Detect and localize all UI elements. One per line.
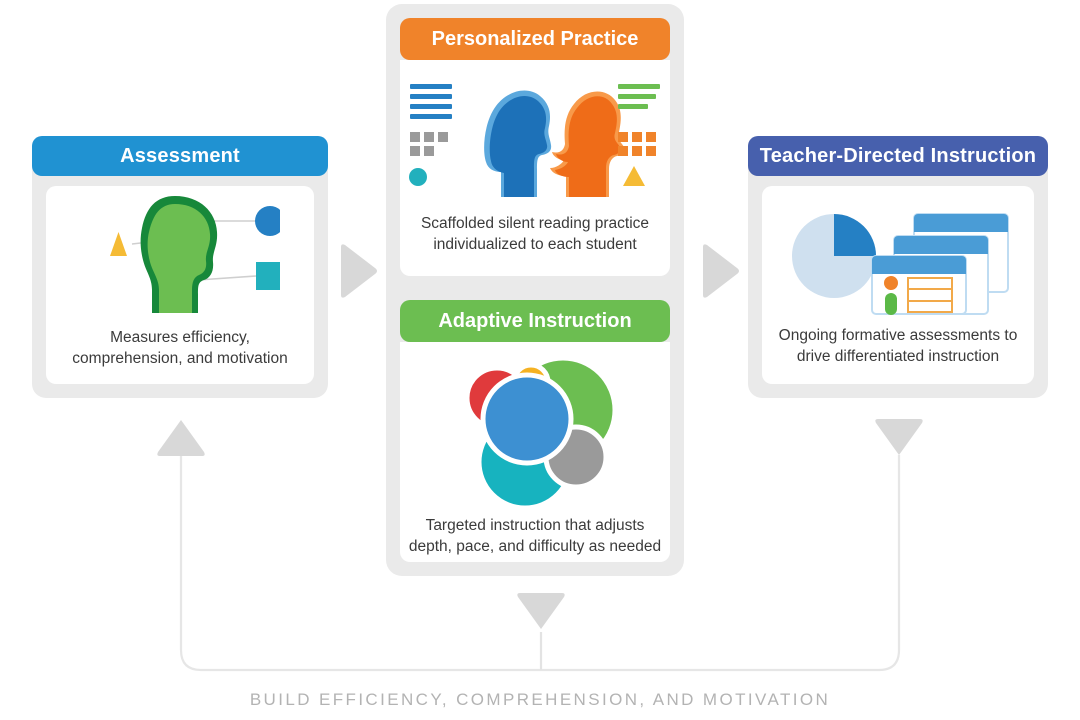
- overlapping-circles-icon: [447, 352, 623, 508]
- panel-middle-stack: Personalized Practice: [386, 4, 684, 576]
- two-student-silhouettes-icon: [404, 76, 666, 198]
- teacher-directed-title: Teacher-Directed Instruction: [748, 136, 1048, 176]
- right-arrow-icon: [703, 244, 739, 297]
- personalized-practice-title: Personalized Practice: [400, 18, 670, 60]
- personalized-practice-caption: Scaffolded silent reading practice indiv…: [411, 214, 659, 256]
- teacher-directed-caption: Ongoing formative assessments to drive d…: [767, 326, 1029, 368]
- assessment-caption: Measures efficiency, comprehension, and …: [60, 328, 300, 370]
- panel-personalized-practice[interactable]: Personalized Practice: [400, 18, 670, 276]
- teacher-card-body: Ongoing formative assessments to drive d…: [762, 186, 1034, 384]
- down-triangle-icon: [517, 593, 564, 629]
- down-triangle-icon: [875, 419, 922, 455]
- head-profile-icon: [80, 194, 280, 314]
- panel-assessment[interactable]: Assessment: [32, 136, 328, 398]
- personalized-practice-body: Scaffolded silent reading practice indiv…: [400, 60, 670, 276]
- panel-teacher-directed[interactable]: Teacher-Directed Instruction: [748, 136, 1048, 398]
- pie-chart-and-report-cards-icon: [782, 198, 1014, 316]
- up-triangle-icon: [157, 420, 204, 456]
- panel-adaptive-instruction[interactable]: Adaptive Instruction: [400, 300, 670, 562]
- diagram-canvas: Assessment: [0, 0, 1080, 720]
- assessment-title: Assessment: [32, 136, 328, 176]
- adaptive-instruction-title: Adaptive Instruction: [400, 300, 670, 342]
- bottom-caption: BUILD EFFICIENCY, COMPREHENSION, AND MOT…: [0, 690, 1080, 710]
- adaptive-instruction-body: Targeted instruction that adjusts depth,…: [400, 342, 670, 562]
- adaptive-instruction-caption: Targeted instruction that adjusts depth,…: [407, 516, 663, 558]
- right-arrow-icon: [341, 244, 377, 297]
- assessment-card-body: Measures efficiency, comprehension, and …: [46, 186, 314, 384]
